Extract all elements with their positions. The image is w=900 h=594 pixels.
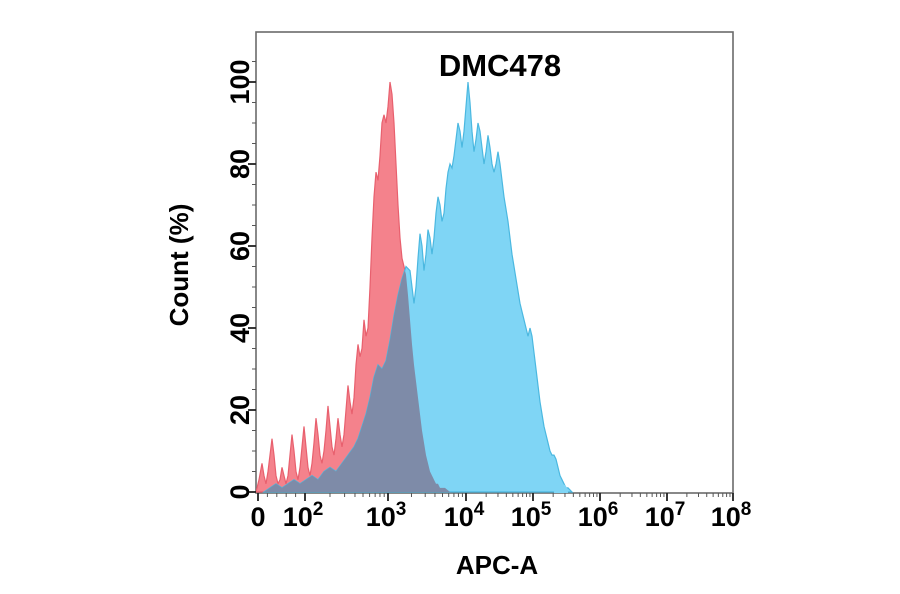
y-tick-label-5: 100	[225, 59, 255, 104]
plot-title: DMC478	[439, 48, 561, 83]
y-tick-label-0: 0	[225, 484, 255, 499]
histogram-svg: 0102103104105106107108 020406080100 DMC4…	[0, 0, 900, 594]
x-axis-title: APC-A	[456, 550, 539, 580]
y-tick-label-4: 80	[225, 149, 255, 179]
y-tick-label-2: 40	[225, 313, 255, 343]
flow-cytometry-figure: 0102103104105106107108 020406080100 DMC4…	[0, 0, 900, 594]
y-tick-label-1: 20	[225, 395, 255, 425]
x-tick-label-0: 0	[250, 502, 265, 532]
y-tick-label-3: 60	[225, 231, 255, 261]
y-axis-title: Count (%)	[164, 204, 194, 327]
